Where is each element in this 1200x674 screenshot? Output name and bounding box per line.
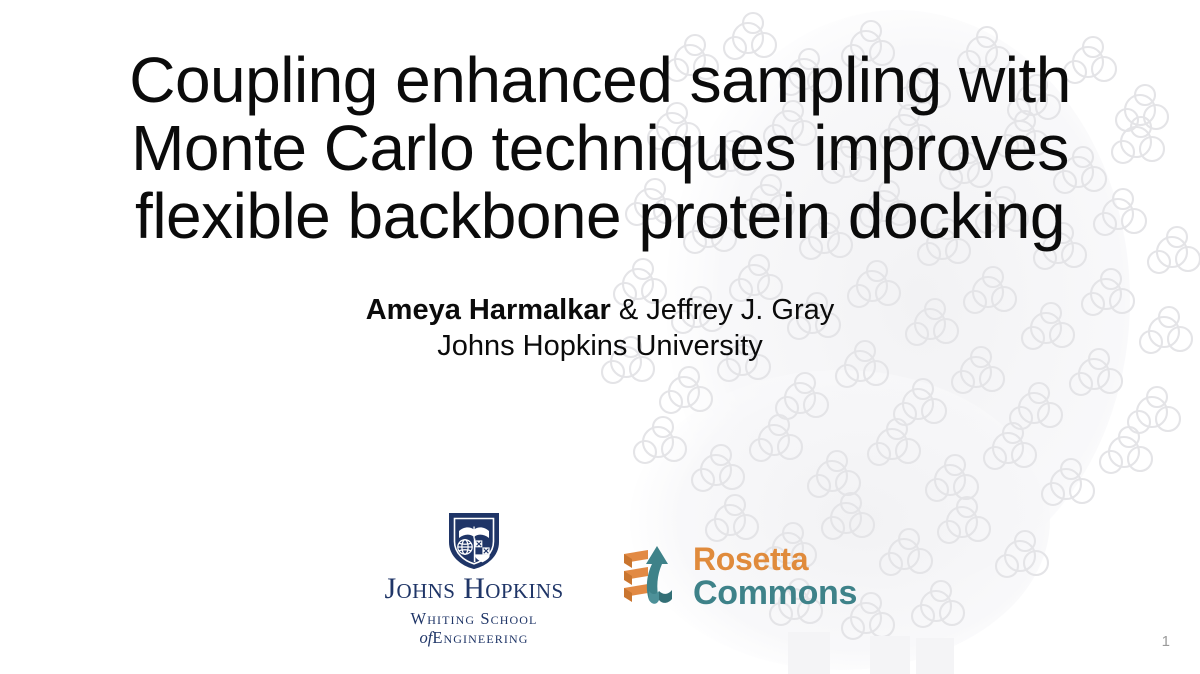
rosetta-commons-logo: Rosetta Commons: [618, 542, 857, 610]
jhu-dept-name: Engineering: [432, 628, 528, 647]
page-title: Coupling enhanced sampling with Monte Ca…: [0, 46, 1200, 250]
title-line-2: Monte Carlo techniques improves: [0, 114, 1200, 182]
page-number: 1: [1162, 633, 1170, 650]
secondary-author: Jeffrey J. Gray: [646, 294, 834, 326]
title-line-1: Coupling enhanced sampling with: [0, 46, 1200, 114]
title-line-3: flexible backbone protein docking: [0, 182, 1200, 250]
johns-hopkins-logo: Johns Hopkins Whiting School ofEngineeri…: [366, 512, 582, 647]
title-slide: Coupling enhanced sampling with Monte Ca…: [0, 0, 1200, 674]
affiliation: Johns Hopkins University: [0, 328, 1200, 364]
primary-author: Ameya Harmalkar: [366, 294, 611, 326]
jhu-school-line: Whiting School: [366, 609, 582, 628]
author-names: Ameya Harmalkar & Jeffrey J. Gray: [0, 292, 1200, 328]
jhu-department-line: ofEngineering: [366, 628, 582, 647]
jhu-dept-prefix: of: [419, 628, 432, 647]
author-separator: &: [611, 294, 646, 326]
jhu-wordmark: Johns Hopkins: [366, 572, 582, 606]
rosetta-commons-wordmark: Rosetta Commons: [693, 543, 857, 610]
logo-row: Johns Hopkins Whiting School ofEngineeri…: [0, 512, 1200, 642]
commons-word: Commons: [693, 576, 857, 610]
jhu-shield-icon: [448, 512, 500, 570]
rosetta-helix-icon: [618, 542, 680, 610]
author-block: Ameya Harmalkar & Jeffrey J. Gray Johns …: [0, 292, 1200, 364]
rosetta-word: Rosetta: [693, 543, 857, 575]
